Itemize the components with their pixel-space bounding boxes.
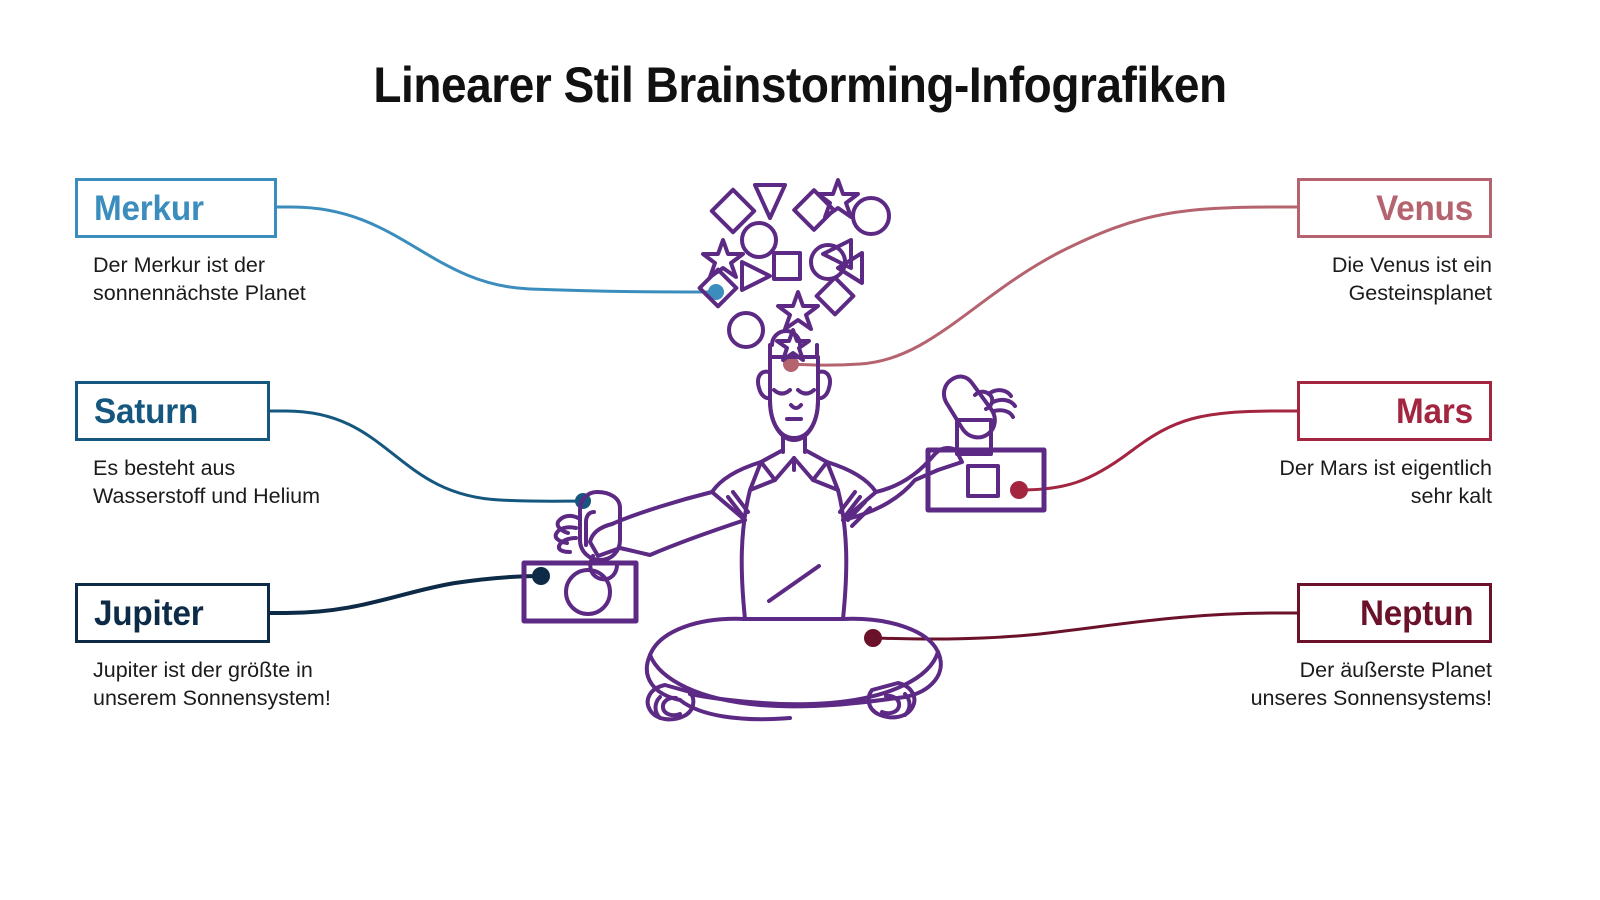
node-neptun-description: Der äußerste Planet unseres Sonnensystem… (1162, 656, 1510, 713)
person-head (758, 331, 830, 440)
node-venus[interactable]: Venus Die Venus ist ein Gesteinsplanet (1297, 178, 1492, 308)
node-venus-description: Die Venus ist ein Gesteinsplanet (1162, 251, 1510, 308)
node-mars-description: Der Mars ist eigentlich sehr kalt (1162, 454, 1510, 511)
person-crossed-legs (647, 619, 941, 720)
node-merkur[interactable]: Merkur Der Merkur ist der sonnennächste … (75, 178, 277, 308)
node-jupiter-box[interactable]: Jupiter (75, 583, 270, 643)
node-venus-box[interactable]: Venus (1297, 178, 1492, 238)
person-torso (712, 462, 876, 619)
node-merkur-title: Merkur (94, 191, 204, 226)
node-mars-title: Mars (1396, 394, 1473, 429)
person-right-hand (944, 377, 1015, 454)
right-card-with-square (928, 450, 1044, 510)
node-merkur-box[interactable]: Merkur (75, 178, 277, 238)
node-mars-box[interactable]: Mars (1297, 381, 1492, 441)
node-jupiter[interactable]: Jupiter Jupiter ist der größte in unsere… (75, 583, 270, 713)
node-venus-title: Venus (1376, 191, 1473, 226)
node-neptun-title: Neptun (1360, 596, 1473, 631)
node-saturn-box[interactable]: Saturn (75, 381, 270, 441)
node-mars[interactable]: Mars Der Mars ist eigentlich sehr kalt (1297, 381, 1492, 511)
node-saturn-title: Saturn (94, 394, 198, 429)
infographic-canvas: Linearer Stil Brainstorming-Infografiken (0, 0, 1600, 900)
node-neptun-box[interactable]: Neptun (1297, 583, 1492, 643)
person-collar (750, 437, 838, 490)
node-jupiter-title: Jupiter (94, 596, 204, 631)
node-saturn[interactable]: Saturn Es besteht aus Wasserstoff und He… (75, 381, 270, 511)
left-card-with-circle (524, 563, 636, 621)
node-neptun[interactable]: Neptun Der äußerste Planet unseres Sonne… (1297, 583, 1492, 713)
node-merkur-description: Der Merkur ist der sonnennächste Planet (75, 251, 423, 308)
node-jupiter-description: Jupiter ist der größte in unserem Sonnen… (75, 656, 423, 713)
person-left-hand (556, 492, 620, 579)
node-saturn-description: Es besteht aus Wasserstoff und Helium (75, 454, 423, 511)
